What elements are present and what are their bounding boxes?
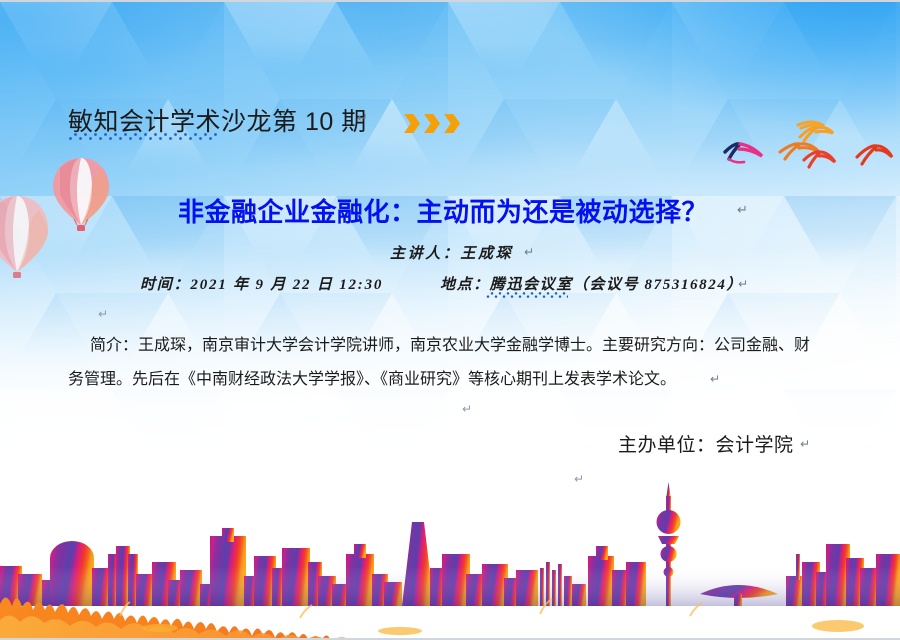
bio-pilcrow-icon: ↵ [710,372,720,386]
spellcheck-underline-place [486,292,568,298]
birds-flock [700,120,900,215]
chevron-right-icon [424,114,440,133]
speaker-pilcrow-icon: ↵ [524,245,534,259]
spellcheck-underline-header [68,133,218,140]
city-skyline-silhouette [0,458,900,638]
hot-air-balloon-large-icon [50,155,112,237]
poster-canvas: 敏知会计学术沙龙第 10 期 ↵ 非金融企业金融化：主动而为还是被动选择？ ↵ … [0,0,900,640]
bio-paragraph-line-1: 简介：王成琛，南京审计大学会计学院讲师，南京农业大学金融学博士。主要研究方向：公… [90,331,810,355]
empty-line-pilcrow-icon: ↵ [98,307,108,321]
organizer-pilcrow-icon: ↵ [800,437,810,451]
chevron-arrows-decoration [404,114,460,133]
meeting-time: 时间：2021 年 9 月 22 日 12:30 [140,273,383,294]
bio-paragraph-line-2: 务管理。先后在《中南财经政法大学学报》、《商业研究》等核心期刊上发表学术论文。 [68,365,676,389]
chevron-right-icon [404,114,420,133]
meeting-place: 地点：腾迅会议室（会议号 875316824） [440,273,743,294]
empty-line-pilcrow-icon: ↵ [462,402,472,416]
hot-air-balloon-small-icon [0,192,52,288]
header-pilcrow-icon: ↵ [357,110,368,126]
speaker-line: 主讲人：王成琛 [390,242,513,263]
organizer-line: 主办单位：会计学院 [618,430,794,457]
page-title: 非金融企业金融化：主动而为还是被动选择？ [178,192,708,229]
place-pilcrow-icon: ↵ [738,277,748,291]
chevron-right-icon [444,114,460,133]
title-pilcrow-icon: ↵ [737,202,748,218]
